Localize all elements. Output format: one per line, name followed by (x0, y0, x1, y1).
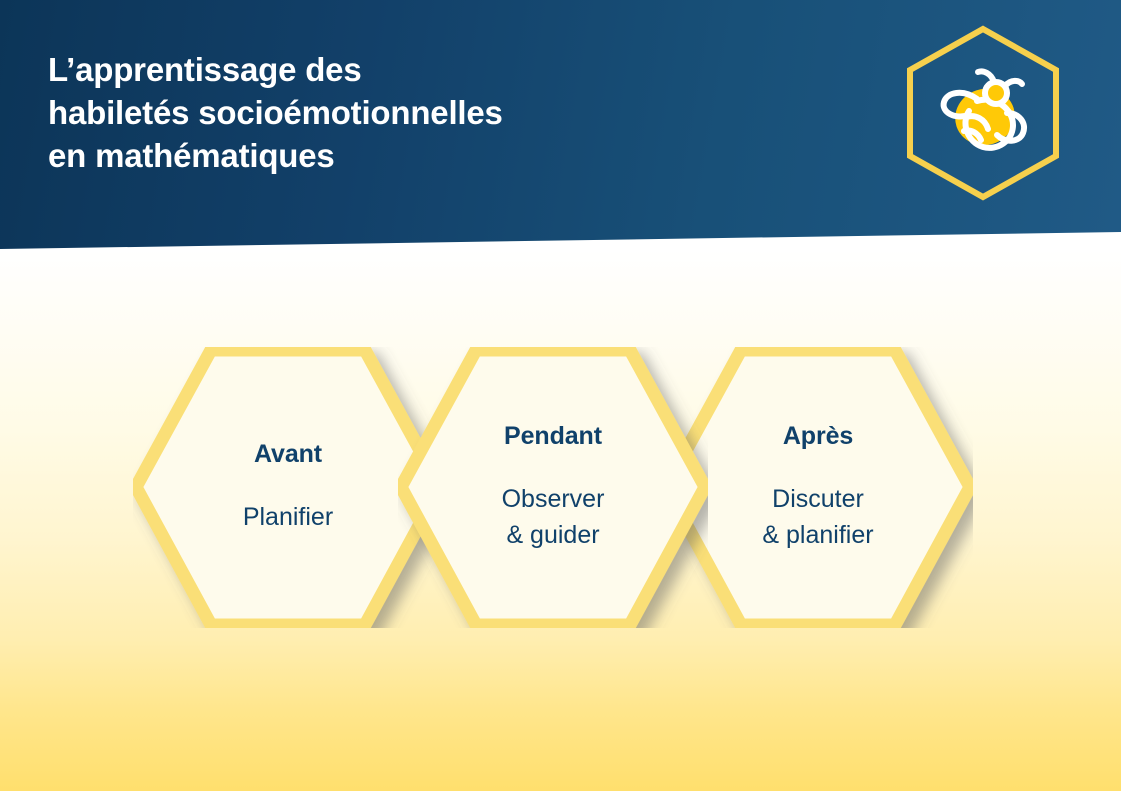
process-step-avant[interactable]: Avant Planifier (133, 347, 443, 628)
slide-canvas: L’apprentissage des habiletés socioémoti… (0, 0, 1121, 791)
hexagon-shape-icon (663, 347, 973, 628)
hexagon-shape-icon (398, 347, 708, 628)
process-step-apres[interactable]: Après Discuter & planifier (663, 347, 973, 628)
process-step-pendant[interactable]: Pendant Observer & guider (398, 347, 708, 628)
hexagon-shape-icon (133, 347, 443, 628)
process-diagram: Avant Planifier Après Discuter & planifi… (0, 0, 1121, 791)
